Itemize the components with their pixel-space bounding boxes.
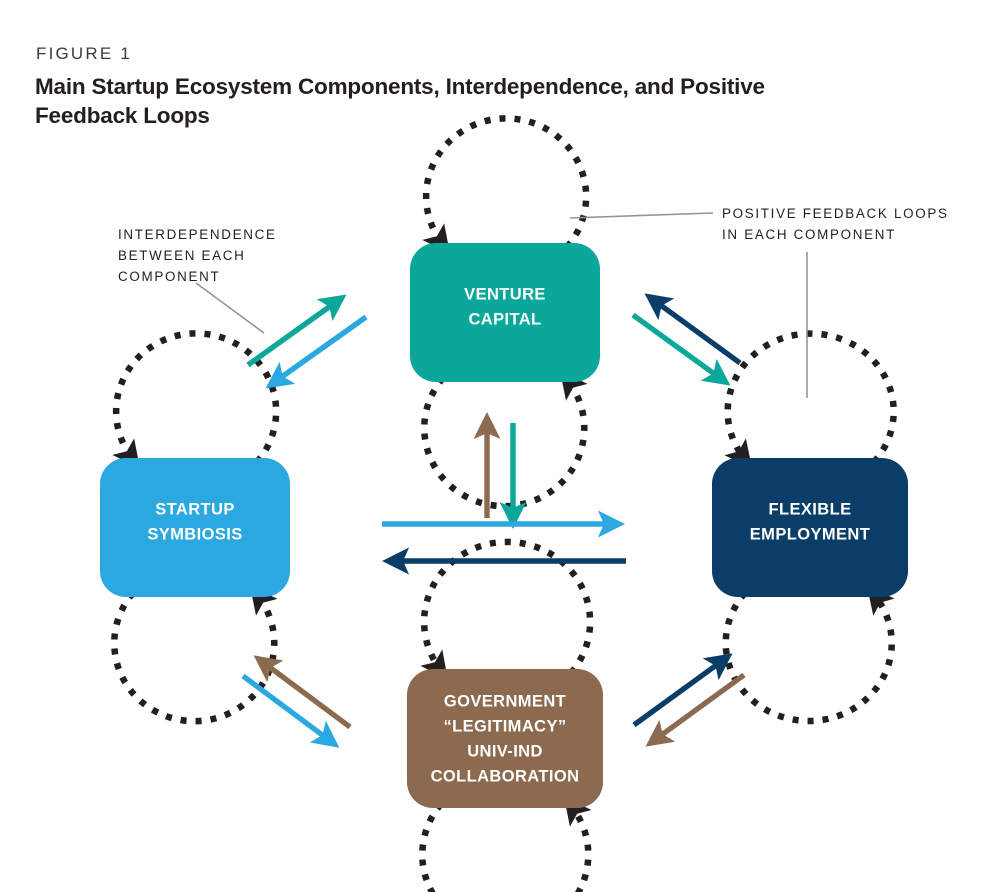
edge-pair-upper-left [248, 302, 366, 381]
arrow-vc-to-symbiosis [276, 317, 366, 381]
arrow-symbiosis-to-government [243, 676, 329, 740]
node-flexible-employment-line-1: EMPLOYMENT [750, 525, 870, 543]
annotation-feedback-line-1: IN EACH COMPONENT [722, 227, 896, 242]
node-startup-symbiosis[interactable]: STARTUP SYMBIOSIS [100, 458, 290, 597]
node-venture-capital-line-0: VENTURE [464, 285, 546, 303]
annotation-interdependence-line-1: BETWEEN EACH [118, 248, 246, 263]
node-startup-symbiosis-line-0: STARTUP [155, 500, 235, 518]
edge-pair-horizontal-center [382, 524, 626, 561]
node-venture-capital[interactable]: VENTURE CAPITAL [410, 243, 600, 382]
annotation-feedback-line-0: POSITIVE FEEDBACK LOOPS [722, 206, 949, 221]
figure-root: FIGURE 1 Main Startup Ecosystem Componen… [0, 0, 1000, 892]
annotation-feedback: POSITIVE FEEDBACK LOOPS IN EACH COMPONEN… [722, 206, 949, 242]
annotation-interdependence-line-0: INTERDEPENDENCE [118, 227, 277, 242]
node-government-line-0: GOVERNMENT [444, 692, 566, 710]
node-venture-capital-line-1: CAPITAL [468, 310, 541, 328]
annotation-interdependence: INTERDEPENDENCE BETWEEN EACH COMPONENT [118, 227, 277, 284]
arrow-vc-to-flexemp [633, 315, 720, 378]
edge-pair-lower-right [634, 661, 744, 739]
node-startup-symbiosis-line-1: SYMBIOSIS [147, 525, 242, 543]
leader-line-feedback-horizontal [570, 213, 713, 218]
arrow-flexemp-to-vc [655, 301, 740, 363]
node-government[interactable]: GOVERNMENT “LEGITIMACY” UNIV-IND COLLABO… [407, 669, 603, 808]
edge-pair-upper-right [633, 301, 740, 378]
node-government-line-2: UNIV-IND [467, 742, 543, 760]
arrow-flexemp-to-government [656, 675, 744, 739]
node-government-line-3: COLLABORATION [431, 767, 580, 785]
node-flexible-employment-line-0: FLEXIBLE [769, 500, 852, 518]
node-flexible-employment[interactable]: FLEXIBLE EMPLOYMENT [712, 458, 908, 597]
node-government-line-1: “LEGITIMACY” [443, 717, 566, 735]
arrow-government-to-flexemp [634, 661, 722, 725]
edge-pair-lower-left [243, 663, 350, 740]
leader-line-interdependence [196, 283, 264, 333]
annotation-interdependence-line-2: COMPONENT [118, 269, 220, 284]
arrow-symbiosis-to-vc [248, 302, 336, 365]
arrow-government-to-symbiosis [264, 663, 350, 727]
ecosystem-diagram: VENTURE CAPITAL STARTUP SYMBIOSIS FLEXIB… [0, 0, 1000, 892]
